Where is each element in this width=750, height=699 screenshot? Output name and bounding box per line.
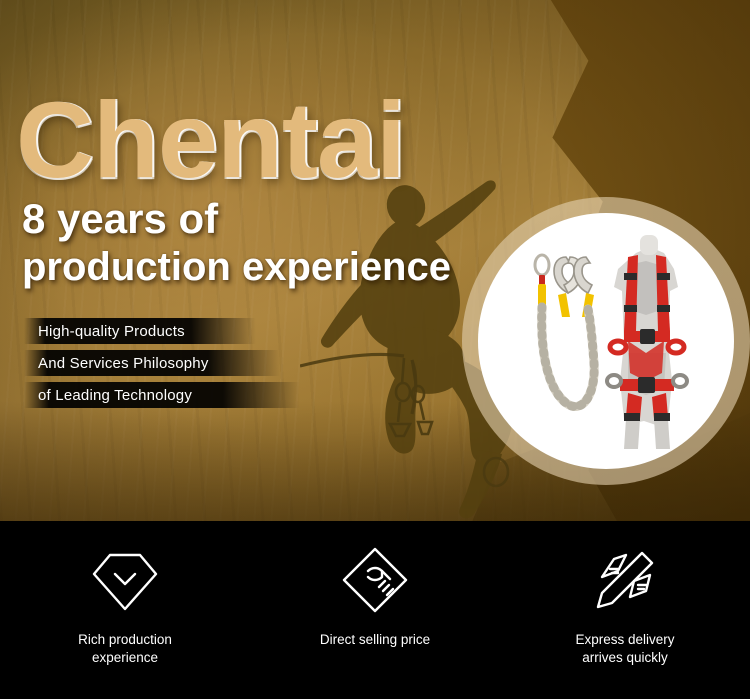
- safety-lanyard-with-carabiners: [535, 255, 594, 407]
- tagline-item: And Services Philosophy: [24, 350, 209, 376]
- promotional-banner: Chentai 8 years of production experience…: [0, 0, 750, 699]
- brand-subtitle-line1: 8 years of: [22, 198, 218, 240]
- feature-item-rich-production[interactable]: Rich production experience: [0, 521, 250, 699]
- gem-diamond-icon: [88, 543, 162, 617]
- feature-label: Rich production experience: [78, 631, 172, 667]
- feature-item-direct-selling[interactable]: Direct selling price: [250, 521, 500, 699]
- tagline-list: High-quality Products And Services Philo…: [24, 318, 209, 414]
- tagline-text: of Leading Technology: [24, 387, 192, 404]
- tagline-text: High-quality Products: [24, 323, 185, 340]
- rocket-delivery-icon: [588, 543, 662, 617]
- feature-label: Express delivery arrives quickly: [575, 631, 674, 667]
- tagline-text: And Services Philosophy: [24, 355, 209, 372]
- full-body-safety-harness: [607, 235, 687, 449]
- feature-item-express-delivery[interactable]: Express delivery arrives quickly: [500, 521, 750, 699]
- hero-section: Chentai 8 years of production experience…: [0, 0, 750, 521]
- brand-name: Chentai: [16, 86, 405, 194]
- brand-subtitle-line2: production experience: [22, 247, 451, 287]
- tagline-item: High-quality Products: [24, 318, 209, 344]
- tagline-item: of Leading Technology: [24, 382, 209, 408]
- handshake-icon: [338, 543, 412, 617]
- product-image-disc: [478, 213, 734, 469]
- product-showcase-circle: [462, 197, 750, 485]
- feature-label: Direct selling price: [320, 631, 430, 649]
- feature-bar: Rich production experience Direct sellin…: [0, 521, 750, 699]
